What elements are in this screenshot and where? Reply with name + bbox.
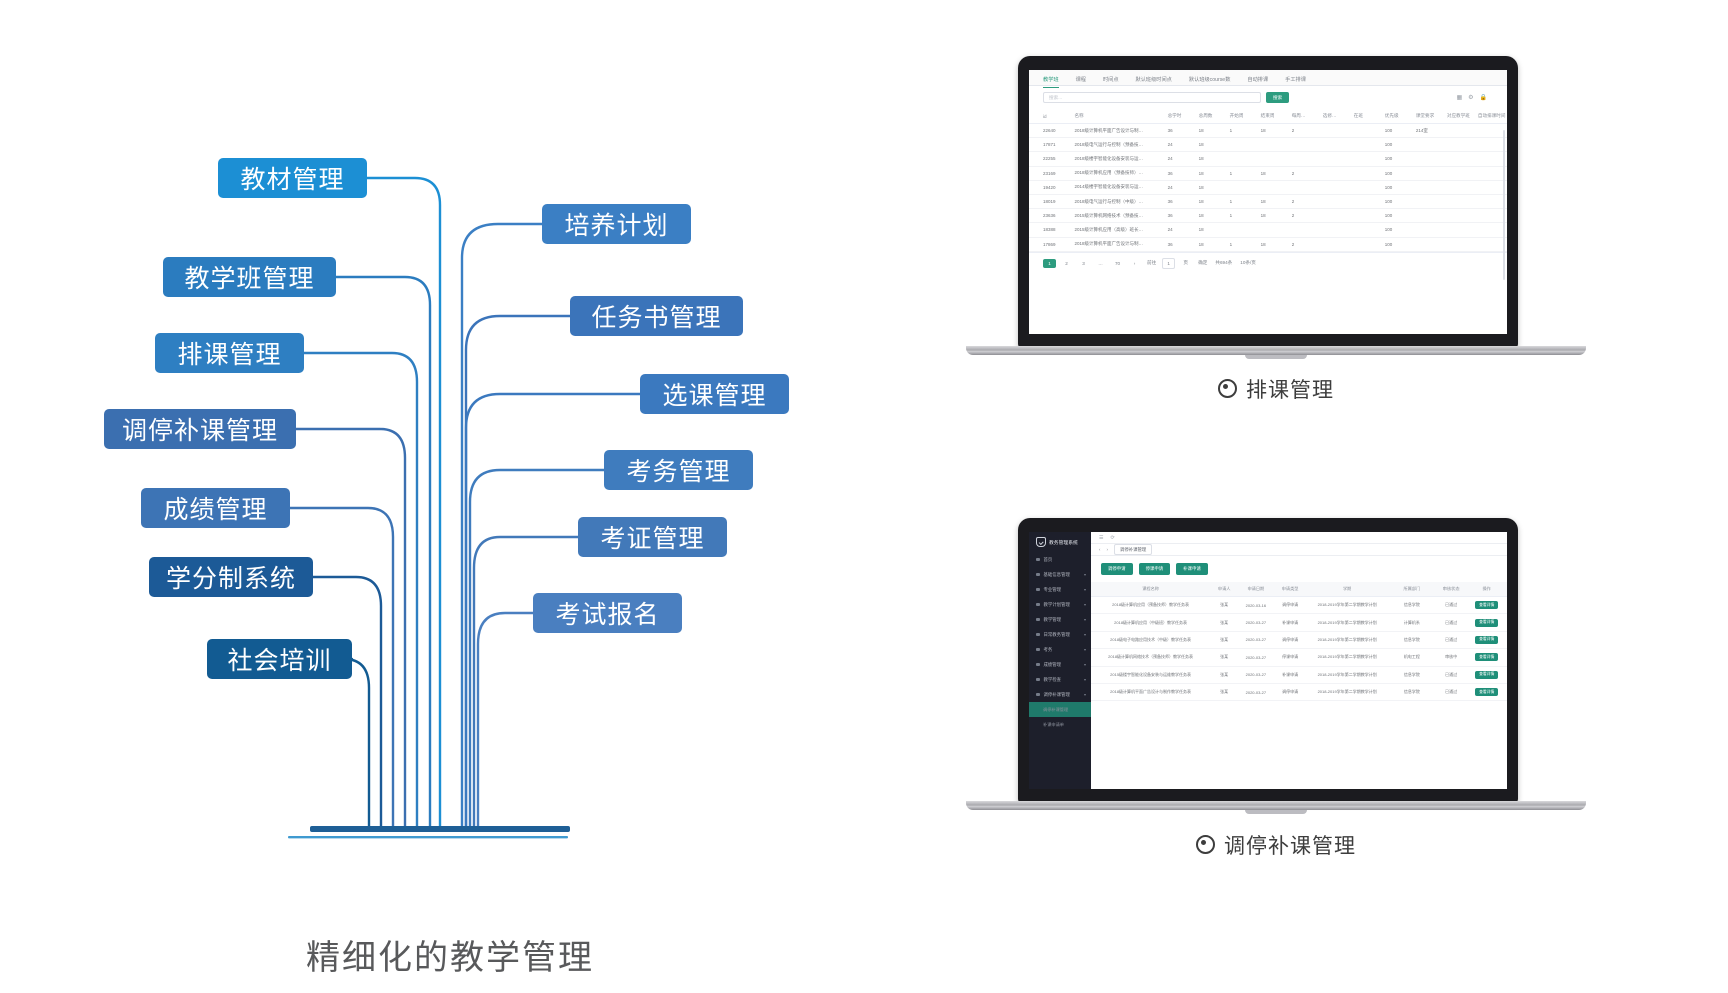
cell-total-hours: 24 (1166, 180, 1197, 194)
per-page-select[interactable]: 10条/页 (1238, 259, 1258, 268)
sidebar-item-label: 日常教务管理 (1044, 632, 1070, 638)
diagram-title: 精细化的教学管理 (0, 930, 900, 979)
next-page-icon[interactable]: › (1128, 259, 1141, 268)
app1-searchbar: 搜索... 搜索 ▦ ⚙ 🔒 (1029, 86, 1507, 109)
cell-total-weeks: 18 (1197, 180, 1228, 194)
cell-total-hours: 24 (1166, 138, 1197, 152)
page-1[interactable]: 1 (1043, 259, 1056, 268)
cell-room-req (1414, 223, 1445, 237)
bullet-icon (1036, 648, 1040, 652)
tiaoting-shenqing-button[interactable]: 调停申请 (1101, 563, 1133, 575)
node-label: 调停补课管理 (122, 411, 278, 447)
bullet-icon (1036, 618, 1040, 622)
cell-elective (1321, 209, 1352, 223)
cell-total-hours: 36 (1166, 124, 1197, 138)
caption-text: 排课管理 (1246, 379, 1334, 402)
node-chengji-guanli[interactable]: 成绩管理 (141, 488, 290, 528)
view-detail-button[interactable]: 查看详情 (1475, 636, 1498, 644)
cell-id: 18019 (1029, 194, 1072, 208)
cell-end-week (1259, 138, 1290, 152)
gear-icon[interactable]: ⚙ (1468, 94, 1473, 101)
cell-term: 2018-2019学年第二学期教学计划 (1307, 631, 1388, 648)
breadcrumb[interactable]: 调停补课管理 (1114, 544, 1152, 555)
table-row[interactable]: 2018级计算机网络技术（预备技师）教学任务表张某2020-03-27停课申请2… (1091, 649, 1507, 666)
cell-end-week: 18 (1259, 166, 1290, 180)
cell-end-week (1259, 180, 1290, 194)
sidebar-item-7[interactable]: 成绩管理▾ (1029, 657, 1091, 672)
bullet-icon (1036, 633, 1040, 637)
app2-main: ☰ ⟳ ‹ › 调停补课管理 调停申请 停课申请 补课申请 (1091, 532, 1507, 789)
cell-total-weeks: 18 (1197, 209, 1228, 223)
col-term: 学期 (1307, 582, 1388, 597)
cell-start-week (1228, 223, 1259, 237)
cell-room-req (1414, 237, 1445, 251)
table-row[interactable]: 2018级电子电路应用技术（中级）教学任务表张某2020-03-27调停申请20… (1091, 631, 1507, 648)
node-paike-guanli[interactable]: 排课管理 (155, 333, 304, 373)
cell-apply-type: 停课申请 (1274, 649, 1307, 666)
cell-elective (1321, 124, 1352, 138)
cell-audit-state: 已通过 (1436, 666, 1466, 683)
cell-priority: 100 (1383, 180, 1414, 194)
cell-audit-state: 审核中 (1436, 649, 1466, 666)
cell-per-week (1290, 138, 1321, 152)
pagination: 1 2 3 … 70 › 前往 1 页 确定 共694条 10条/页 (1029, 252, 1507, 274)
col-course-name: 课程名称 (1091, 582, 1210, 597)
node-label: 选课管理 (662, 376, 766, 412)
cell-end-week (1259, 223, 1290, 237)
cell-apply-type: 补课申请 (1274, 614, 1307, 631)
node-label: 教材管理 (240, 160, 344, 196)
cell-name: 2018级计算机平面广告设计与制… (1072, 237, 1165, 251)
cell-course-name: 2015级楼宇智能化设备安装与运维教学任务表 (1091, 666, 1210, 683)
laptop-base (966, 801, 1586, 810)
cell-audit-state: 已通过 (1436, 631, 1466, 648)
col-name: 名称 (1072, 109, 1165, 124)
table-row[interactable]: 226402018级计算机平面广告设计与制…36181182100214室 (1029, 124, 1507, 138)
cell-priority: 100 (1383, 209, 1414, 223)
node-label: 培养计划 (564, 206, 668, 242)
sidebar-item-0[interactable]: 首页 (1029, 552, 1091, 567)
cell-room-req (1414, 152, 1445, 166)
target-icon (1196, 835, 1215, 854)
sidebar-item-label: 考务 (1044, 647, 1053, 653)
col-match-class: 对应教学班 (1445, 109, 1476, 124)
cell-id: 18388 (1029, 223, 1072, 237)
cell-total-hours: 24 (1166, 152, 1197, 166)
col-department: 所属部门 (1388, 582, 1436, 597)
cell-end-week (1259, 152, 1290, 166)
cell-total-weeks: 18 (1197, 237, 1228, 251)
sidebar-items: 首页基础信息管理▾专业管理▾教学计划管理▾教学管理▾日常教务管理▾考务▾成绩管理… (1029, 552, 1091, 732)
cell-id: 17869 (1029, 237, 1072, 251)
app1-tool-icons: ▦ ⚙ 🔒 (1456, 94, 1493, 101)
cell-priority: 100 (1383, 152, 1414, 166)
search-input[interactable]: 搜索... (1043, 92, 1261, 103)
sidebar-item-5[interactable]: 日常教务管理▾ (1029, 627, 1091, 642)
cell-total-hours: 24 (1166, 223, 1197, 237)
cell-name: 2018级计算机平面广告设计与制… (1072, 124, 1165, 138)
cell-start-week: 1 (1228, 166, 1259, 180)
node-label: 教学班管理 (184, 259, 314, 295)
cell-start-week (1228, 152, 1259, 166)
chevron-down-icon: ▾ (1084, 572, 1086, 577)
cell-room-req (1414, 194, 1445, 208)
view-detail-button[interactable]: 查看详情 (1475, 601, 1498, 609)
col-total-weeks: 总周数 (1197, 109, 1228, 124)
app2-topbar: ☰ ⟳ (1091, 532, 1507, 544)
chevron-down-icon: ▾ (1084, 617, 1086, 622)
view-detail-button[interactable]: 查看详情 (1475, 688, 1498, 696)
cell-match-class (1445, 166, 1476, 180)
node-kaozheng-guanli[interactable]: 考证管理 (578, 517, 727, 557)
cell-name: 2014级楼宇智能化设备安装与运… (1072, 180, 1165, 194)
bullet-icon (1036, 573, 1040, 577)
cell-course-name: 2018级计算机网络技术（预备技师）教学任务表 (1091, 649, 1210, 666)
cell-id: 19420 (1029, 180, 1072, 194)
cell-operation: 查看详情 (1466, 614, 1507, 631)
cell-operation: 查看详情 (1466, 666, 1507, 683)
node-kaoshi-baoming[interactable]: 考试报名 (533, 593, 682, 633)
cell-in-class (1352, 124, 1383, 138)
col-start-week: 开始周 (1228, 109, 1259, 124)
cell-end-week: 18 (1259, 124, 1290, 138)
node-kaowu-guanli[interactable]: 考务管理 (604, 450, 753, 490)
table-row[interactable]: 2015级楼宇智能化设备安装与运维教学任务表张某2020-03-27补课申请20… (1091, 666, 1507, 683)
sidebar-item-label: 教学计划管理 (1044, 602, 1070, 608)
tab-shijiandian[interactable]: 时间点 (1103, 76, 1119, 87)
col-priority: 优先级 (1383, 109, 1414, 124)
cell-per-week: 2 (1290, 209, 1321, 223)
cell-end-week: 18 (1259, 237, 1290, 251)
paike-table-body: 226402018级计算机平面广告设计与制…36181182100214室178… (1029, 124, 1507, 252)
app1-tabbar: 教学班 课程 时间点 默认班级时间点 默认班级course数 自动排课 手工排课 (1029, 70, 1507, 86)
table-row[interactable]: 178692018级计算机平面广告设计与制…36181182100 (1029, 237, 1507, 251)
cell-in-class (1352, 166, 1383, 180)
bullet-icon (1036, 588, 1040, 592)
cell-match-class (1445, 237, 1476, 251)
cell-term: 2018-2019学年第二学期教学计划 (1307, 683, 1388, 700)
sidebar-item-10[interactable]: 调停补课管理 (1029, 702, 1091, 717)
cell-match-class (1445, 152, 1476, 166)
page-3[interactable]: 3 (1077, 259, 1090, 268)
menu-collapse-icon[interactable]: ☰ (1099, 535, 1103, 541)
page-last[interactable]: 70 (1111, 259, 1124, 268)
page-unit: 页 (1179, 259, 1192, 268)
app2-sidebar: 教务管理系统 首页基础信息管理▾专业管理▾教学计划管理▾教学管理▾日常教务管理▾… (1029, 532, 1091, 789)
cell-audit-state: 已通过 (1436, 597, 1466, 614)
cell-id: 17871 (1029, 138, 1072, 152)
caption-tiaoting: 调停补课管理 (966, 830, 1586, 860)
cell-department: 信息学院 (1388, 631, 1436, 648)
paike-table: id 名称 总学时 总周数 开始周 结束周 每周… 选修… 在班 优先级 课堂要 (1029, 109, 1507, 252)
cell-priority: 100 (1383, 138, 1414, 152)
cell-applicant: 张某 (1210, 597, 1238, 614)
sidebar-item-6[interactable]: 考务▾ (1029, 642, 1091, 657)
cell-name: 2015级计算机应用（高级）班长… (1072, 223, 1165, 237)
cell-total-weeks: 18 (1197, 152, 1228, 166)
bullet-icon (1036, 603, 1040, 607)
col-end-week: 结束周 (1259, 109, 1290, 124)
cell-audit-state: 已通过 (1436, 683, 1466, 700)
cell-match-class (1445, 194, 1476, 208)
cell-name: 2018级电气运行与控制（中级）… (1072, 194, 1165, 208)
page-ellipsis: … (1094, 259, 1107, 268)
node-label: 学分制系统 (166, 559, 296, 595)
cell-per-week: 2 (1290, 166, 1321, 180)
cell-apply-type: 调停申请 (1274, 631, 1307, 648)
cell-start-week: 1 (1228, 237, 1259, 251)
laptop-mockup-tiaoting: 教务管理系统 首页基础信息管理▾专业管理▾教学计划管理▾教学管理▾日常教务管理▾… (966, 518, 1586, 878)
cell-start-week: 1 (1228, 124, 1259, 138)
cell-start-week (1228, 138, 1259, 152)
node-xuanke-guanli[interactable]: 选课管理 (640, 374, 789, 414)
cell-apply-date: 2020-03-27 (1238, 631, 1274, 648)
sidebar-item-1[interactable]: 基础信息管理▾ (1029, 567, 1091, 582)
sidebar-item-2[interactable]: 专业管理▾ (1029, 582, 1091, 597)
cell-id: 23636 (1029, 209, 1072, 223)
cell-priority: 100 (1383, 223, 1414, 237)
laptop-bezel: 教学班 课程 时间点 默认班级时间点 默认班级course数 自动排课 手工排课… (1018, 56, 1518, 348)
search-button[interactable]: 搜索 (1266, 92, 1289, 103)
cell-start-week: 1 (1228, 209, 1259, 223)
caption-text: 调停补课管理 (1224, 835, 1356, 858)
node-label: 任务书管理 (591, 298, 721, 334)
app2-breadcrumb-bar: ‹ › 调停补课管理 (1091, 544, 1507, 556)
cell-total-hours: 36 (1166, 237, 1197, 251)
node-tiaoting-buke-guanli[interactable]: 调停补课管理 (104, 409, 296, 449)
sidebar-item-9[interactable]: 调停补课管理▾ (1029, 687, 1091, 702)
chevron-down-icon: ▾ (1084, 662, 1086, 667)
back-arrow-icon[interactable]: ‹ (1099, 547, 1100, 552)
table-header-row: id 名称 总学时 总周数 开始周 结束周 每周… 选修… 在班 优先级 课堂要 (1029, 109, 1507, 124)
cell-operation: 查看详情 (1466, 597, 1507, 614)
table-row[interactable]: 183882015级计算机应用（高级）班长…2418100 (1029, 223, 1507, 237)
laptop-screen: 教学班 课程 时间点 默认班级时间点 默认班级course数 自动排课 手工排课… (1029, 70, 1507, 334)
cell-course-name: 2018级计算机应用（中级班）教学任务表 (1091, 614, 1210, 631)
cell-start-week (1228, 180, 1259, 194)
tree-ground-line (288, 836, 568, 838)
cell-in-class (1352, 194, 1383, 208)
tree-branch-lines (0, 0, 900, 993)
lock-icon[interactable]: 🔒 (1480, 94, 1487, 101)
table-row[interactable]: 194202014级楼宇智能化设备安装与运…2418100 (1029, 180, 1507, 194)
cell-in-class (1352, 237, 1383, 251)
node-label: 考务管理 (626, 452, 730, 488)
cell-per-week: 2 (1290, 194, 1321, 208)
view-detail-button[interactable]: 查看详情 (1475, 619, 1498, 627)
table-header-row: 课程名称 申请人 申请日期 申请类型 学期 所属部门 审核状态 操作 (1091, 582, 1507, 597)
sidebar-item-label: 基础信息管理 (1044, 572, 1070, 578)
confirm-button[interactable]: 确定 (1196, 259, 1209, 268)
col-apply-date: 申请日期 (1238, 582, 1274, 597)
node-xuefenzhi-xitong[interactable]: 学分制系统 (149, 557, 313, 597)
col-elective: 选修… (1321, 109, 1352, 124)
total-count: 共694条 (1213, 259, 1234, 268)
col-room-req: 课堂要求 (1414, 109, 1445, 124)
node-shehui-peixun[interactable]: 社会培训 (207, 639, 352, 679)
tiaoting-table: 课程名称 申请人 申请日期 申请类型 学期 所属部门 审核状态 操作 (1091, 582, 1507, 701)
grid-icon[interactable]: ▦ (1456, 94, 1462, 101)
bullet-icon (1036, 663, 1040, 667)
laptop-bezel: 教务管理系统 首页基础信息管理▾专业管理▾教学计划管理▾教学管理▾日常教务管理▾… (1018, 518, 1518, 803)
cell-per-week: 2 (1290, 237, 1321, 251)
table-row[interactable]: 222552018级楼宇智能化设备安装与运…2418100 (1029, 152, 1507, 166)
node-label: 排课管理 (177, 335, 281, 371)
cell-audit-state: 已通过 (1436, 614, 1466, 631)
tab-kecheng[interactable]: 课程 (1076, 76, 1086, 87)
laptop-notch (1245, 355, 1307, 359)
cell-department: 信息学院 (1388, 666, 1436, 683)
laptop-mockup-paike: 教学班 课程 时间点 默认班级时间点 默认班级course数 自动排课 手工排课… (966, 56, 1586, 366)
view-detail-button[interactable]: 查看详情 (1475, 671, 1498, 679)
chevron-down-icon: ▾ (1084, 692, 1086, 697)
cell-applicant: 张某 (1210, 683, 1238, 700)
tab-moren-banji-shijiandian[interactable]: 默认班级时间点 (1136, 76, 1172, 87)
cell-priority: 100 (1383, 166, 1414, 180)
cell-match-class (1445, 209, 1476, 223)
cell-per-week (1290, 223, 1321, 237)
cell-elective (1321, 166, 1352, 180)
sidebar-item-8[interactable]: 教学检查▾ (1029, 672, 1091, 687)
cell-operation: 查看详情 (1466, 631, 1507, 648)
cell-apply-type: 调停申请 (1274, 683, 1307, 700)
table-row[interactable]: 2018级计算机应用（中级班）教学任务表张某2020-03-27补课申请2018… (1091, 614, 1507, 631)
view-detail-button[interactable]: 查看详情 (1475, 653, 1498, 661)
cell-apply-date: 2020-03-27 (1238, 649, 1274, 666)
cell-course-name: 2018级计算机应用（预备技师）教学任务表 (1091, 597, 1210, 614)
bullet-icon (1036, 678, 1040, 682)
cell-apply-type: 调停申请 (1274, 597, 1307, 614)
cell-room-req (1414, 166, 1445, 180)
cell-total-hours: 36 (1166, 166, 1197, 180)
col-in-class: 在班 (1352, 109, 1383, 124)
cell-per-week (1290, 152, 1321, 166)
sidebar-item-label: 首页 (1044, 557, 1053, 563)
chevron-down-icon: ▾ (1084, 677, 1086, 682)
sidebar-item-3[interactable]: 教学计划管理▾ (1029, 597, 1091, 612)
node-jiaoxueban-guanli[interactable]: 教学班管理 (163, 257, 336, 297)
cell-applicant: 张某 (1210, 649, 1238, 666)
cell-name: 2018级楼宇智能化设备安装与运… (1072, 152, 1165, 166)
app-tiaoting-buke: 教务管理系统 首页基础信息管理▾专业管理▾教学计划管理▾教学管理▾日常教务管理▾… (1029, 532, 1507, 789)
cell-match-class (1445, 138, 1476, 152)
col-apply-type: 申请类型 (1274, 582, 1307, 597)
bullet-icon (1036, 693, 1040, 697)
col-per-week: 每周… (1290, 109, 1321, 124)
table-row[interactable]: 2018级计算机平面广告设计与制作教学任务表张某2020-03-27调停申请20… (1091, 683, 1507, 700)
cell-department: 信息学院 (1388, 683, 1436, 700)
cell-elective (1321, 223, 1352, 237)
chevron-down-icon: ▾ (1084, 632, 1086, 637)
node-label: 成绩管理 (163, 490, 267, 526)
target-icon (1218, 379, 1237, 398)
cell-term: 2018-2019学年第二学期教学计划 (1307, 666, 1388, 683)
table-row[interactable]: 2018级计算机应用（预备技师）教学任务表张某2020-03-16调停申请201… (1091, 597, 1507, 614)
cell-course-name: 2018级计算机平面广告设计与制作教学任务表 (1091, 683, 1210, 700)
buke-shenqing-button[interactable]: 补课申请 (1176, 563, 1208, 575)
cell-match-class (1445, 223, 1476, 237)
refresh-icon[interactable]: ⟳ (1110, 535, 1114, 541)
tab-moren-banji-course[interactable]: 默认班级course数 (1189, 76, 1231, 87)
cell-id: 22640 (1029, 124, 1072, 138)
cell-elective (1321, 152, 1352, 166)
app2-action-buttons: 调停申请 停课申请 补课申请 (1091, 556, 1507, 582)
node-jiaocai-guanli[interactable]: 教材管理 (218, 158, 367, 198)
sidebar-item-label: 成绩管理 (1044, 662, 1062, 668)
cell-match-class (1445, 180, 1476, 194)
sidebar-item-label: 专业管理 (1044, 587, 1062, 593)
col-applicant: 申请人 (1210, 582, 1238, 597)
tab-zidong-paike[interactable]: 自动排课 (1247, 76, 1268, 87)
laptop-base (966, 346, 1586, 355)
cell-per-week (1290, 180, 1321, 194)
cell-name: 2015级计算机网络技术（预备技… (1072, 209, 1165, 223)
page-2[interactable]: 2 (1060, 259, 1073, 268)
cell-term: 2018-2019学年第二学期教学计划 (1307, 614, 1388, 631)
cell-total-weeks: 18 (1197, 223, 1228, 237)
cell-name: 2018级计算机应用（预备技师）… (1072, 166, 1165, 180)
cell-name: 2018级电气运行与控制（预备技… (1072, 138, 1165, 152)
forward-arrow-icon[interactable]: › (1106, 547, 1107, 552)
cell-operation: 查看详情 (1466, 649, 1507, 666)
col-auto-time: 自动排课时间 (1476, 109, 1507, 124)
table-row[interactable]: 178712018级电气运行与控制（预备技…2418100 (1029, 138, 1507, 152)
cell-id: 23169 (1029, 166, 1072, 180)
sidebar-item-label: 调停补课管理 (1043, 707, 1068, 713)
tree-base-bar (310, 826, 570, 832)
tingke-shenqing-button[interactable]: 停课申请 (1139, 563, 1171, 575)
cell-total-hours: 36 (1166, 194, 1197, 208)
bullet-icon (1036, 558, 1040, 562)
cell-applicant: 张某 (1210, 614, 1238, 631)
tab-shougong-paike[interactable]: 手工排课 (1285, 76, 1306, 87)
cell-department: 机电工程 (1388, 649, 1436, 666)
table-row[interactable]: 236362015级计算机网络技术（预备技…36181182100 (1029, 209, 1507, 223)
cell-term: 2018-2019学年第二学期教学计划 (1307, 597, 1388, 614)
cell-term: 2018-2019学年第二学期教学计划 (1307, 649, 1388, 666)
node-renwushu-guanli[interactable]: 任务书管理 (570, 296, 743, 336)
logo-text: 教务管理系统 (1049, 539, 1078, 546)
chevron-down-icon: ▾ (1084, 602, 1086, 607)
cell-end-week: 18 (1259, 209, 1290, 223)
cell-apply-date: 2020-03-27 (1238, 683, 1274, 700)
caption-paike: 排课管理 (966, 374, 1586, 404)
cell-start-week: 1 (1228, 194, 1259, 208)
cell-department: 计算机系 (1388, 614, 1436, 631)
node-peiyang-jihua[interactable]: 培养计划 (542, 204, 691, 244)
sidebar-item-11[interactable]: 补课申请单 (1029, 717, 1091, 732)
cell-course-name: 2018级电子电路应用技术（中级）教学任务表 (1091, 631, 1210, 648)
cell-total-weeks: 18 (1197, 166, 1228, 180)
table-row[interactable]: 180192018级电气运行与控制（中级）…36181182100 (1029, 194, 1507, 208)
laptop-screen: 教务管理系统 首页基础信息管理▾专业管理▾教学计划管理▾教学管理▾日常教务管理▾… (1029, 532, 1507, 789)
table-row[interactable]: 231692018级计算机应用（预备技师）…36181182100 (1029, 166, 1507, 180)
cell-match-class (1445, 124, 1476, 138)
cell-total-hours: 36 (1166, 209, 1197, 223)
sidebar-item-4[interactable]: 教学管理▾ (1029, 612, 1091, 627)
cell-priority: 100 (1383, 194, 1414, 208)
tab-jiaoxueban[interactable]: 教学班 (1043, 76, 1059, 88)
goto-label: 前往 (1145, 259, 1158, 268)
cell-elective (1321, 138, 1352, 152)
vertical-scrollbar[interactable] (1503, 130, 1506, 280)
cell-end-week: 18 (1259, 194, 1290, 208)
cell-operation: 查看详情 (1466, 683, 1507, 700)
goto-input[interactable]: 1 (1162, 258, 1175, 269)
cell-apply-date: 2020-03-16 (1238, 597, 1274, 614)
cell-per-week: 2 (1290, 124, 1321, 138)
col-audit-state: 审核状态 (1436, 582, 1466, 597)
